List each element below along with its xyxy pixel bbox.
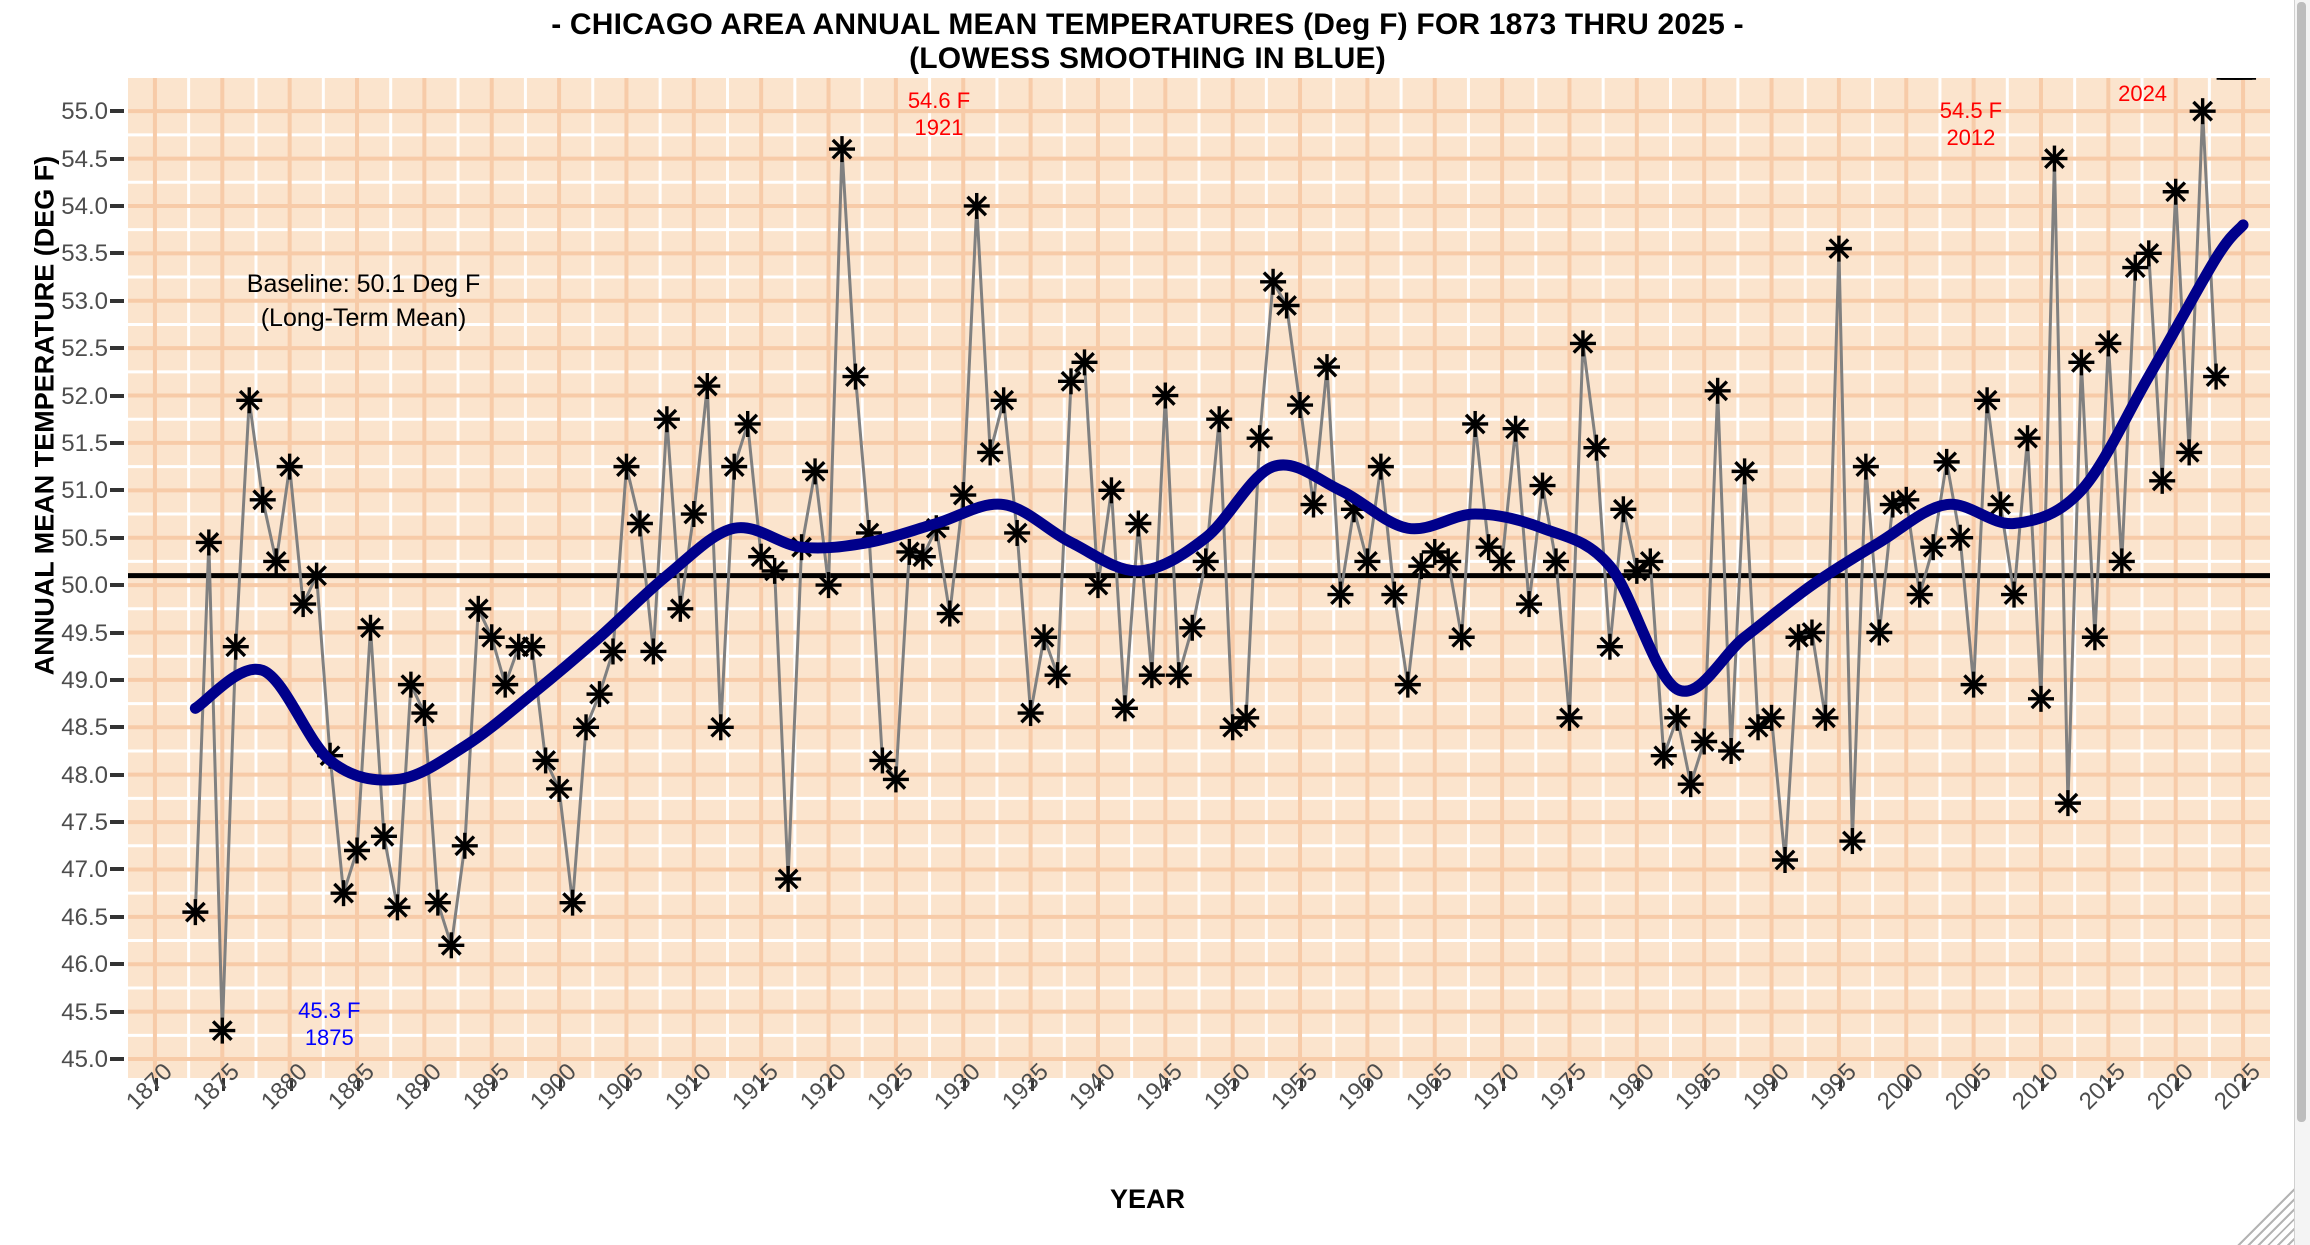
y-tick-mark — [110, 346, 124, 350]
y-tick-mark — [110, 157, 124, 161]
annotation-max-2024: 55.0 F2024 — [2058, 78, 2228, 107]
annotation-year: (Long-Term Mean) — [214, 301, 514, 335]
chart-root: - CHICAGO AREA ANNUAL MEAN TEMPERATURES … — [0, 0, 2295, 1245]
plot-area: 54.6 F192154.5 F201255.0 F202445.3 F1875… — [128, 78, 2270, 1078]
y-tick-mark — [110, 109, 124, 113]
y-tick-mark — [110, 394, 124, 398]
chart-title: - CHICAGO AREA ANNUAL MEAN TEMPERATURES … — [0, 8, 2295, 42]
y-tick-mark — [110, 583, 124, 587]
y-tick-mark — [110, 820, 124, 824]
annotation-value: 54.5 F — [1886, 97, 2056, 124]
vertical-scrollbar[interactable] — [2294, 0, 2310, 1245]
y-tick-mark — [110, 1010, 124, 1014]
annotation-value: 45.3 F — [244, 997, 414, 1024]
scrollbar-thumb[interactable] — [2297, 2, 2306, 1122]
y-tick-mark — [110, 631, 124, 635]
annotation-min-1875: 45.3 F1875 — [244, 997, 414, 1051]
y-axis-tick-marks — [0, 78, 128, 1078]
y-tick-mark — [110, 1057, 124, 1061]
annotation-max-2012: 54.5 F2012 — [1886, 97, 2056, 151]
y-tick-mark — [110, 204, 124, 208]
annotation-value: 54.6 F — [854, 87, 1024, 114]
y-tick-mark — [110, 678, 124, 682]
y-tick-mark — [110, 725, 124, 729]
y-tick-mark — [110, 488, 124, 492]
annotation-year: 1921 — [854, 114, 1024, 141]
y-tick-mark — [110, 441, 124, 445]
annotation-baseline-note: Baseline: 50.1 Deg F(Long-Term Mean) — [214, 267, 514, 335]
chart-title-block: - CHICAGO AREA ANNUAL MEAN TEMPERATURES … — [0, 8, 2295, 76]
y-tick-mark — [110, 962, 124, 966]
annotation-max-1921: 54.6 F1921 — [854, 87, 1024, 141]
annotation-year: 1875 — [244, 1024, 414, 1051]
y-tick-mark — [110, 867, 124, 871]
y-tick-mark — [110, 251, 124, 255]
plot-canvas — [128, 78, 2270, 1078]
y-tick-mark — [110, 915, 124, 919]
y-tick-mark — [110, 773, 124, 777]
annotation-value: Baseline: 50.1 Deg F — [214, 267, 514, 301]
x-axis-title: YEAR — [0, 1184, 2295, 1215]
annotation-year: 2024 — [2058, 80, 2228, 107]
y-tick-mark — [110, 536, 124, 540]
annotation-year: 2012 — [1886, 124, 2056, 151]
chart-subtitle: (LOWESS SMOOTHING IN BLUE) — [0, 42, 2295, 76]
y-tick-mark — [110, 299, 124, 303]
x-axis-tick-labels: 1870187518801885189018951900190519101915… — [128, 1078, 2270, 1178]
